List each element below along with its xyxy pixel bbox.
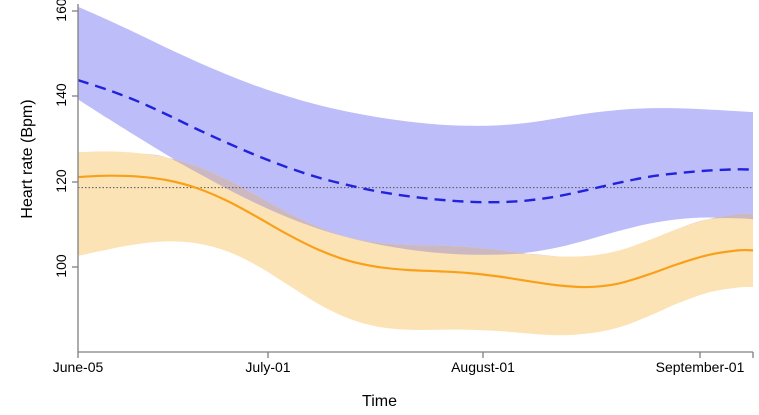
x-axis-title: Time [0,393,759,411]
x-tick-label-3: September-01 [620,359,759,375]
heart-rate-forecast-chart [0,0,759,415]
y-tick-label-100: 100 [53,246,69,286]
y-tick-label-120: 120 [53,161,69,201]
y-tick-label-140: 140 [53,75,69,115]
y-tick-label-160: 160 [53,0,69,30]
chart-root: Heart rate (Bpm) Time 100120140160 June-… [0,0,759,415]
y-axis-title: Heart rate (Bpm) [19,39,37,279]
confidence-bands [78,7,753,336]
x-tick-label-0: June-05 [0,359,158,375]
x-tick-label-2: August-01 [403,359,563,375]
x-tick-label-1: July-01 [188,359,348,375]
